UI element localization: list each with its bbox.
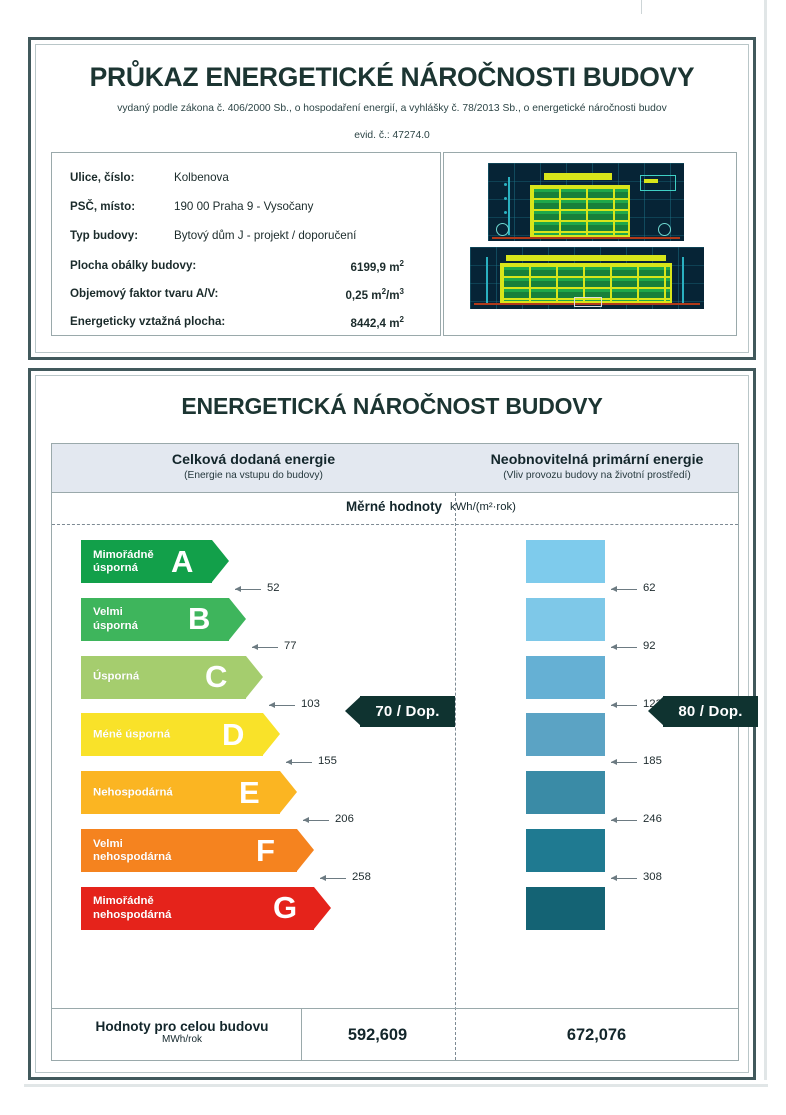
bar-label-e: Nehospodárná bbox=[93, 786, 173, 799]
bar-tip-g bbox=[314, 887, 331, 929]
primary-energy-block-3 bbox=[526, 656, 605, 699]
totals-value-left: 592,609 bbox=[301, 1026, 454, 1045]
cad-roof-top bbox=[544, 173, 612, 180]
unit-label: Měrné hodnoty bbox=[52, 499, 442, 514]
boundary-value: 92 bbox=[643, 640, 656, 652]
building-elevation-drawing-bottom bbox=[470, 247, 704, 309]
type-label: Typ budovy: bbox=[70, 229, 138, 242]
cad-marker-c-top bbox=[504, 211, 507, 214]
boundary-arrowhead-icon bbox=[611, 875, 617, 881]
boundary-arrowhead-icon bbox=[303, 817, 309, 823]
shape-value: 0,25 m2/m3 bbox=[345, 287, 404, 302]
evidence-number: evid. č.: 47274.0 bbox=[31, 130, 753, 141]
column-header-left: Celková dodaná energie (Energie na vstup… bbox=[52, 451, 455, 483]
shape-label: Objemový faktor tvaru A/V: bbox=[70, 287, 218, 300]
bar-letter-c: C bbox=[205, 661, 227, 692]
floor-label: Energeticky vztažná plocha: bbox=[70, 315, 225, 328]
building-info-box: Ulice, číslo: Kolbenova PSČ, místo: 190 … bbox=[51, 152, 441, 336]
primary-energy-block-4 bbox=[526, 713, 605, 756]
boundary-arrowhead-icon bbox=[611, 586, 617, 592]
bar-label-c: Úsporná bbox=[93, 670, 139, 683]
section-title: ENERGETICKÁ NÁROČNOST BUDOVY bbox=[31, 393, 753, 420]
rating-pointer-left: 70 / Dop. bbox=[345, 696, 455, 727]
energy-class-bar-b: Velmi úspornáB bbox=[81, 598, 246, 641]
energy-scale-frame: Celková dodaná energie (Energie na vstup… bbox=[51, 443, 739, 1061]
page-edge-tick bbox=[641, 0, 642, 14]
cad-axis-right-bottom bbox=[682, 257, 684, 303]
boundary-value: 52 bbox=[267, 582, 280, 594]
cad-columns-top bbox=[532, 187, 628, 235]
boundary-arrowhead-icon bbox=[611, 644, 617, 650]
shape-unit-mid: /m bbox=[386, 289, 400, 302]
column-right-title: Neobnovitelná primární energie bbox=[455, 451, 739, 469]
column-header-band: Celková dodaná energie (Energie na vstup… bbox=[52, 444, 738, 493]
bar-label-a: Mimořádně úsporná bbox=[93, 548, 154, 574]
info-row-street: Ulice, číslo: Kolbenova bbox=[70, 171, 430, 189]
bar-shape-g: Mimořádně nehospodárnáG bbox=[81, 887, 331, 930]
boundary-value: 155 bbox=[318, 755, 337, 767]
cad-titleblock-bar-top bbox=[644, 179, 658, 183]
totals-label-sub: MWh/rok bbox=[67, 1034, 297, 1045]
boundary-arrowhead-icon bbox=[320, 875, 326, 881]
rating-pointer-right: 80 / Dop. bbox=[648, 696, 758, 727]
totals-label: Hodnoty pro celou budovu MWh/rok bbox=[67, 1019, 297, 1045]
boundary-value: 246 bbox=[643, 813, 662, 825]
info-row-zip: PSČ, místo: 190 00 Praha 9 - Vysočany bbox=[70, 200, 430, 218]
cad-facade-top bbox=[530, 185, 630, 237]
bar-label-f: Velmi nehospodárná bbox=[93, 837, 171, 863]
bar-letter-f: F bbox=[256, 834, 275, 865]
cad-axis-left-bottom bbox=[486, 257, 488, 303]
info-row-type: Typ budovy: Bytový dům J - projekt / dop… bbox=[70, 229, 430, 247]
bar-tip-b bbox=[229, 598, 246, 640]
column-left-title: Celková dodaná energie bbox=[52, 451, 455, 469]
bar-label-b: Velmi úsporná bbox=[93, 606, 138, 632]
energy-class-bar-e: NehospodárnáE bbox=[81, 771, 297, 814]
boundary-arrowhead-icon bbox=[611, 702, 617, 708]
document-title: PRŮKAZ ENERGETICKÉ NÁROČNOSTI BUDOVY bbox=[31, 62, 753, 93]
floor-unit-sup: 2 bbox=[400, 315, 404, 324]
certificate-page: PRŮKAZ ENERGETICKÉ NÁROČNOSTI BUDOVY vyd… bbox=[0, 0, 786, 1115]
energy-class-bar-a: Mimořádně úspornáA bbox=[81, 540, 229, 583]
rating-pointer-left-label: 70 / Dop. bbox=[360, 696, 455, 727]
bar-tip-c bbox=[246, 656, 263, 698]
boundary-arrowhead-icon bbox=[252, 644, 258, 650]
primary-energy-block-6 bbox=[526, 829, 605, 872]
zip-value: 190 00 Praha 9 - Vysočany bbox=[174, 200, 313, 213]
cad-marker-b-top bbox=[504, 197, 507, 200]
info-row-shape: Objemový faktor tvaru A/V: 0,25 m2/m3 bbox=[70, 287, 430, 305]
bar-shape-b: Velmi úspornáB bbox=[81, 598, 246, 641]
building-drawing-box bbox=[443, 152, 737, 336]
street-value: Kolbenova bbox=[174, 171, 229, 184]
boundary-arrowhead-icon bbox=[611, 817, 617, 823]
rating-pointer-right-tip bbox=[648, 696, 664, 726]
page-edge-right bbox=[764, 0, 767, 1080]
primary-energy-block-2 bbox=[526, 598, 605, 641]
energy-class-bar-d: Méně úspornáD bbox=[81, 713, 280, 756]
info-row-floor: Energeticky vztažná plocha: 8442,4 m2 bbox=[70, 315, 430, 333]
bar-shape-c: ÚspornáC bbox=[81, 656, 263, 699]
bar-letter-e: E bbox=[239, 777, 260, 808]
cad-entrance-bottom bbox=[574, 297, 602, 307]
bar-shape-a: Mimořádně úspornáA bbox=[81, 540, 229, 583]
horizontal-dashed-divider bbox=[52, 524, 738, 525]
info-row-envelope: Plocha obálky budovy: 6199,9 m2 bbox=[70, 259, 430, 277]
envelope-unit-sup: 2 bbox=[400, 259, 404, 268]
cad-roof-bottom bbox=[506, 255, 666, 261]
envelope-value-text: 6199,9 m bbox=[351, 261, 400, 274]
bar-tip-a bbox=[212, 540, 229, 582]
cad-titleblock-top bbox=[640, 175, 676, 191]
envelope-label: Plocha obálky budovy: bbox=[70, 259, 196, 272]
cad-columns-bottom bbox=[502, 265, 670, 301]
cad-symbol-right-top bbox=[658, 223, 671, 236]
bar-shape-e: NehospodárnáE bbox=[81, 771, 297, 814]
building-elevation-drawing-top bbox=[488, 163, 684, 241]
column-left-subtitle: (Energie na vstupu do budovy) bbox=[52, 469, 455, 483]
totals-value-right: 672,076 bbox=[454, 1026, 739, 1045]
floor-value-text: 8442,4 m bbox=[351, 317, 400, 330]
primary-energy-block-7 bbox=[526, 887, 605, 930]
boundary-value: 206 bbox=[335, 813, 354, 825]
zip-label: PSČ, místo: bbox=[70, 200, 135, 213]
rating-pointer-right-label: 80 / Dop. bbox=[663, 696, 758, 727]
bar-letter-a: A bbox=[171, 545, 193, 576]
column-right-subtitle: (Vliv provozu budovy na životní prostřed… bbox=[455, 469, 739, 483]
energy-rating-panel: ENERGETICKÁ NÁROČNOST BUDOVY Celková dod… bbox=[28, 368, 756, 1080]
type-value: Bytový dům J - projekt / doporučení bbox=[174, 229, 356, 242]
rating-pointer-left-tip bbox=[345, 696, 361, 726]
totals-row: Hodnoty pro celou budovu MWh/rok 592,609… bbox=[51, 1008, 739, 1061]
street-label: Ulice, číslo: bbox=[70, 171, 134, 184]
cad-symbol-left-top bbox=[496, 223, 509, 236]
totals-label-main: Hodnoty pro celou budovu bbox=[67, 1019, 297, 1034]
shape-unit-sup2: 3 bbox=[400, 287, 404, 296]
unit-row: Měrné hodnoty kWh/(m²·rok) bbox=[52, 493, 738, 524]
header-panel: PRŮKAZ ENERGETICKÉ NÁROČNOSTI BUDOVY vyd… bbox=[28, 37, 756, 360]
bar-shape-d: Méně úspornáD bbox=[81, 713, 280, 756]
floor-value: 8442,4 m2 bbox=[351, 315, 404, 330]
boundary-value: 77 bbox=[284, 640, 297, 652]
energy-class-bar-g: Mimořádně nehospodárnáG bbox=[81, 887, 331, 930]
energy-class-bar-c: ÚspornáC bbox=[81, 656, 263, 699]
boundary-arrowhead-icon bbox=[611, 759, 617, 765]
bar-letter-g: G bbox=[273, 892, 297, 923]
shape-value-text: 0,25 m bbox=[345, 289, 381, 302]
boundary-arrowhead-icon bbox=[286, 759, 292, 765]
cad-marker-a-top bbox=[504, 183, 507, 186]
cad-ground-top bbox=[492, 237, 680, 239]
boundary-value: 308 bbox=[643, 871, 662, 883]
bar-tip-d bbox=[263, 713, 280, 755]
primary-energy-block-1 bbox=[526, 540, 605, 583]
column-header-right: Neobnovitelná primární energie (Vliv pro… bbox=[455, 451, 739, 483]
bar-letter-d: D bbox=[222, 719, 244, 750]
envelope-value: 6199,9 m2 bbox=[351, 259, 404, 274]
bar-tip-e bbox=[280, 771, 297, 813]
boundary-value: 103 bbox=[301, 698, 320, 710]
vertical-dashed-divider bbox=[455, 493, 456, 1060]
document-subtitle: vydaný podle zákona č. 406/2000 Sb., o h… bbox=[61, 101, 723, 116]
boundary-arrowhead-icon bbox=[269, 702, 275, 708]
unit-value: kWh/(m²·rok) bbox=[450, 501, 516, 513]
bar-label-g: Mimořádně nehospodárná bbox=[93, 895, 171, 921]
boundary-arrowhead-icon bbox=[235, 586, 241, 592]
boundary-value: 258 bbox=[352, 871, 371, 883]
bar-shape-f: Velmi nehospodárnáF bbox=[81, 829, 314, 872]
bar-label-d: Méně úsporná bbox=[93, 728, 170, 741]
bar-tip-f bbox=[297, 829, 314, 871]
bar-letter-b: B bbox=[188, 603, 210, 634]
boundary-value: 185 bbox=[643, 755, 662, 767]
primary-energy-block-5 bbox=[526, 771, 605, 814]
energy-class-bar-f: Velmi nehospodárnáF bbox=[81, 829, 314, 872]
page-edge-bottom bbox=[24, 1084, 768, 1087]
boundary-value: 62 bbox=[643, 582, 656, 594]
